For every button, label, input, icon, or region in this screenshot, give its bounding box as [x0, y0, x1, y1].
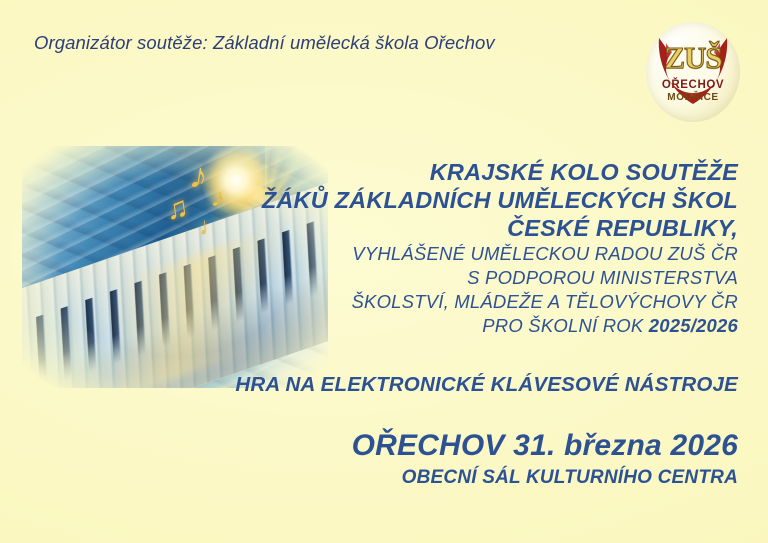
- logo-acronym: ZUŠ: [646, 42, 740, 73]
- zus-logo: ZUŠ OŘECHOV MODŘICE: [646, 22, 740, 122]
- school-year-line: PRO ŠKOLNÍ ROK 2025/2026: [198, 314, 738, 338]
- headline-line-3: ČESKÉ REPUBLIKY,: [198, 214, 738, 242]
- subheadline-line-3: ŠKOLSTVÍ, MLÁDEŽE A TĚLOVÝCHOVY ČR: [198, 290, 738, 314]
- subheadline-line-2: S PODPOROU MINISTERSTVA: [198, 266, 738, 290]
- logo-town-secondary: MODŘICE: [646, 92, 740, 105]
- school-year-value: 2025/2026: [649, 315, 738, 336]
- subheadline-line-1: VYHLÁŠENÉ UMĚLECKOU RADOU ZUŠ ČR: [198, 242, 738, 266]
- competition-discipline: HRA NA ELEKTRONICKÉ KLÁVESOVÉ NÁSTROJE: [235, 373, 738, 397]
- headline-line-1: KRAJSKÉ KOLO SOUTĚŽE: [198, 158, 738, 186]
- logo-town-primary: OŘECHOV: [646, 78, 740, 92]
- event-place-and-date: OŘECHOV 31. března 2026: [352, 428, 738, 464]
- poster-canvas: Organizátor soutěže: Základní umělecká š…: [0, 0, 768, 543]
- event-venue: OBECNÍ SÁL KULTURNÍHO CENTRA: [352, 466, 738, 490]
- headline-line-2: ŽÁKŮ ZÁKLADNÍCH UMĚLECKÝCH ŠKOL: [198, 186, 738, 214]
- school-year-prefix: PRO ŠKOLNÍ ROK: [482, 315, 648, 336]
- event-details-block: OŘECHOV 31. března 2026 OBECNÍ SÁL KULTU…: [352, 428, 738, 490]
- organizer-line: Organizátor soutěže: Základní umělecká š…: [34, 32, 495, 54]
- headline-block: KRAJSKÉ KOLO SOUTĚŽE ŽÁKŮ ZÁKLADNÍCH UMĚ…: [198, 158, 738, 338]
